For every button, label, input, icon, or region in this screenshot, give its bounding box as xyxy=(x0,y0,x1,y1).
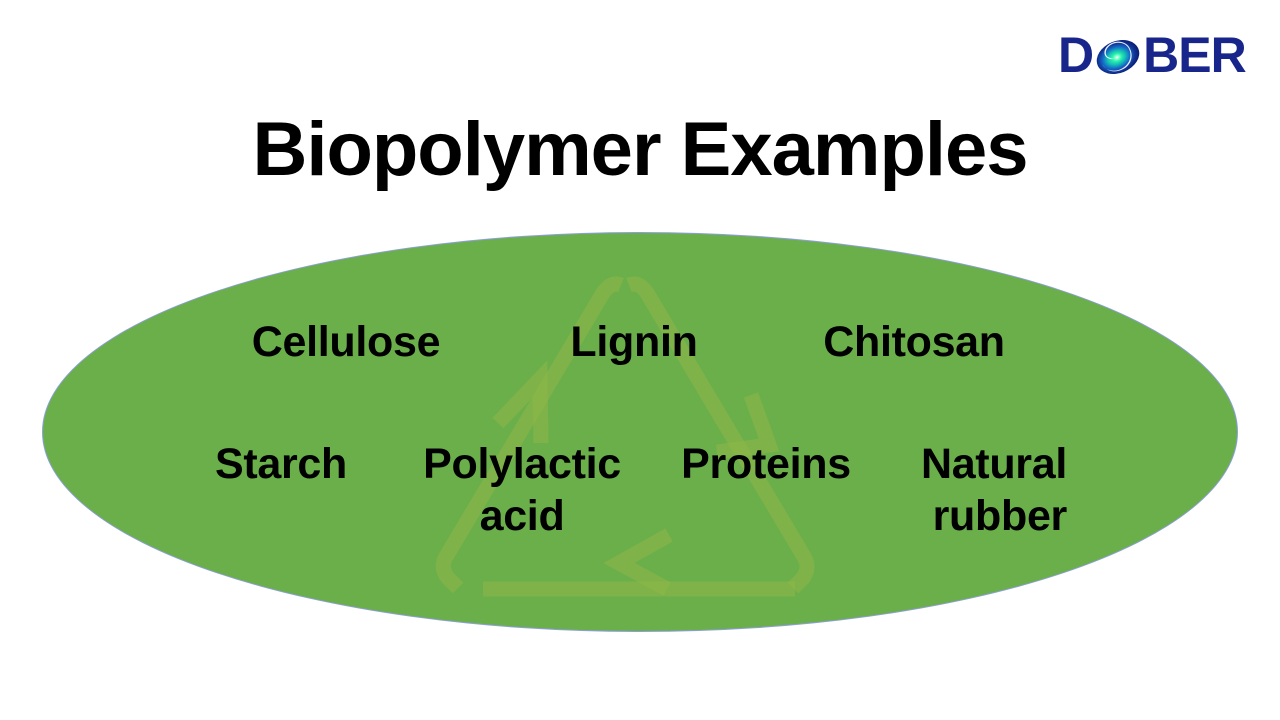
biopolymer-label-cellulose: Cellulose xyxy=(238,316,454,368)
biopolymer-label-polylactic-acid: Polylactic acid xyxy=(410,438,634,543)
page-title: Biopolymer Examples xyxy=(0,112,1280,188)
green-ellipse xyxy=(42,232,1238,632)
biopolymer-label-proteins: Proteins xyxy=(670,438,862,490)
biopolymer-label-lignin: Lignin xyxy=(560,316,708,368)
swirl-icon xyxy=(1095,35,1141,75)
content-ellipse-container xyxy=(42,232,1238,632)
recycling-triangle-icon xyxy=(43,233,1238,632)
biopolymer-label-chitosan: Chitosan xyxy=(808,316,1020,368)
slide-canvas: D xyxy=(0,0,1280,720)
dober-logo-text-after: BER xyxy=(1143,30,1246,80)
dober-logo-text-before: D xyxy=(1058,30,1093,80)
dober-logo-text: D xyxy=(1058,30,1246,80)
biopolymer-label-natural-rubber: Natural rubber xyxy=(897,438,1067,543)
dober-logo[interactable]: D xyxy=(1058,26,1254,84)
biopolymer-label-starch: Starch xyxy=(206,438,356,490)
